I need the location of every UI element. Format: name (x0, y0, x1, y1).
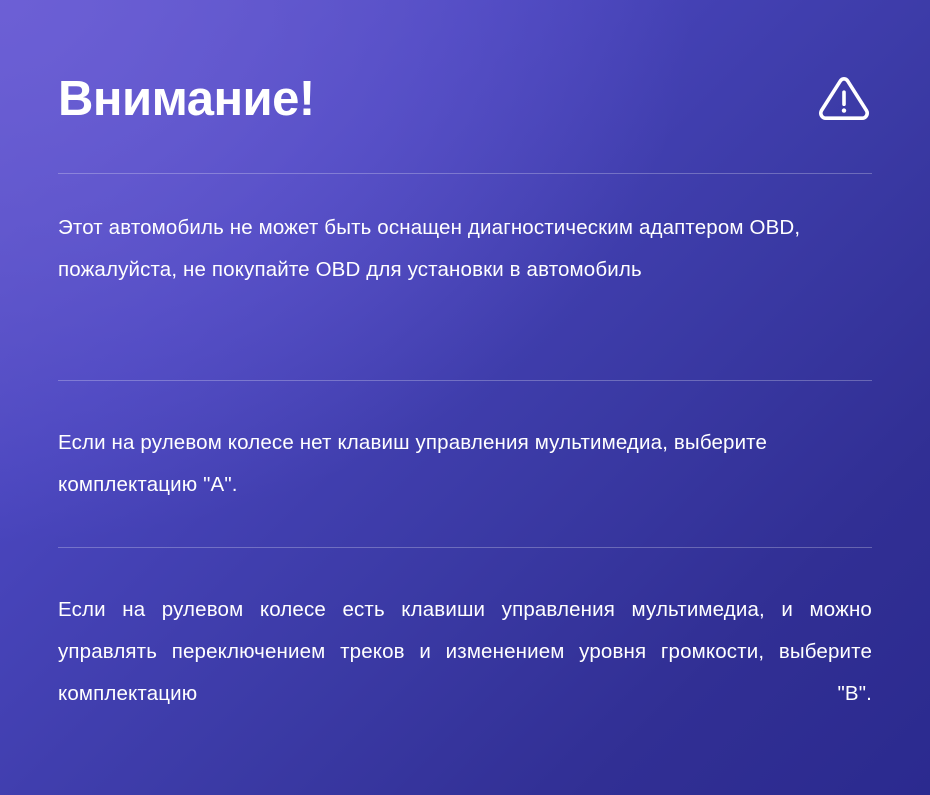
warning-notice-panel: Внимание! Этот автомобиль не может быть … (0, 0, 930, 795)
page-title: Внимание! (58, 74, 315, 125)
notice-paragraph-obd-warning: Этот автомобиль не может быть оснащен ди… (58, 207, 872, 291)
panel-header: Внимание! (58, 58, 872, 142)
section-divider (58, 380, 872, 381)
section-divider (58, 173, 872, 174)
section-divider (58, 547, 872, 548)
notice-paragraph-variant-b: Если на рулевом колесе есть клавиши упра… (58, 589, 872, 757)
panel-content: Внимание! Этот автомобиль не может быть … (58, 0, 872, 795)
notice-paragraph-variant-a: Если на рулевом колесе нет клавиш управл… (58, 422, 872, 506)
warning-triangle-icon (817, 73, 871, 127)
